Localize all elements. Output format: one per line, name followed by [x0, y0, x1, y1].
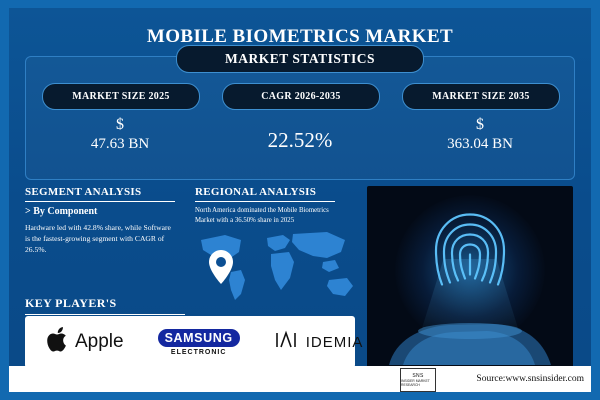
idemia-wordmark: IDEMIA: [306, 334, 364, 351]
stat-label-cagr: CAGR 2026-2035: [222, 83, 380, 110]
segment-analysis-body: Hardware led with 42.8% share, while Sof…: [25, 222, 177, 255]
world-map-graphic: [195, 226, 363, 306]
logo-apple: Apple: [47, 327, 124, 358]
stat-value-market-size-2035: $ 363.04 BN: [402, 115, 558, 154]
stat-currency-2035: $: [402, 115, 558, 135]
key-players-logo-box: Apple SAMSUNG ELECTRONIC IDEMIA: [25, 316, 355, 368]
regional-analysis-heading: REGIONAL ANALYSIS: [195, 186, 335, 202]
segment-analysis-subheading: > By Component: [25, 206, 97, 217]
logo-samsung: SAMSUNG ELECTRONIC: [158, 329, 240, 356]
fingerprint-hero-image: [367, 186, 573, 368]
sns-insider-logo: SNS INSIDER MARKET RESEARCH: [400, 368, 436, 392]
stat-label-market-size-2035: MARKET SIZE 2035: [402, 83, 560, 110]
apple-wordmark: Apple: [75, 331, 124, 353]
stat-currency-2025: $: [42, 115, 198, 135]
idemia-mark-icon: [274, 330, 300, 355]
frame-bottom-border: [0, 392, 600, 400]
fingerprint-icon: [428, 206, 512, 311]
key-players-heading: KEY PLAYER'S: [25, 296, 185, 315]
stat-number-2025: 47.63 BN: [42, 135, 198, 154]
sns-badge-bottom: INSIDER MARKET RESEARCH: [401, 379, 435, 387]
samsung-subtext: ELECTRONIC: [158, 349, 240, 356]
segment-analysis-heading: SEGMENT ANALYSIS: [25, 186, 175, 202]
samsung-wordmark: SAMSUNG: [158, 329, 240, 347]
market-statistics-header: MARKET STATISTICS: [176, 45, 424, 73]
hand-illustration: [375, 297, 565, 368]
frame-top-border: [0, 0, 600, 8]
market-statistics-card: MARKET STATISTICS MARKET SIZE 2025 CAGR …: [25, 56, 575, 180]
source-text: Source:www.snsinsider.com: [476, 374, 584, 384]
logo-idemia: IDEMIA: [274, 330, 364, 355]
stat-number-cagr: 22.52%: [222, 115, 378, 153]
apple-icon: [47, 327, 69, 358]
main-panel: MOBILE BIOMETRICS MARKET MARKET STATISTI…: [9, 8, 591, 366]
regional-analysis-body: North America dominated the Mobile Biome…: [195, 206, 345, 226]
frame-left-border: [0, 0, 9, 400]
stat-number-2035: 363.04 BN: [402, 135, 558, 154]
frame-right-border: [591, 0, 600, 400]
stat-label-market-size-2025: MARKET SIZE 2025: [42, 83, 200, 110]
infographic-root: MOBILE BIOMETRICS MARKET MARKET STATISTI…: [0, 0, 600, 400]
stat-value-market-size-2025: $ 47.63 BN: [42, 115, 198, 154]
stat-value-cagr: 22.52%: [222, 115, 378, 153]
